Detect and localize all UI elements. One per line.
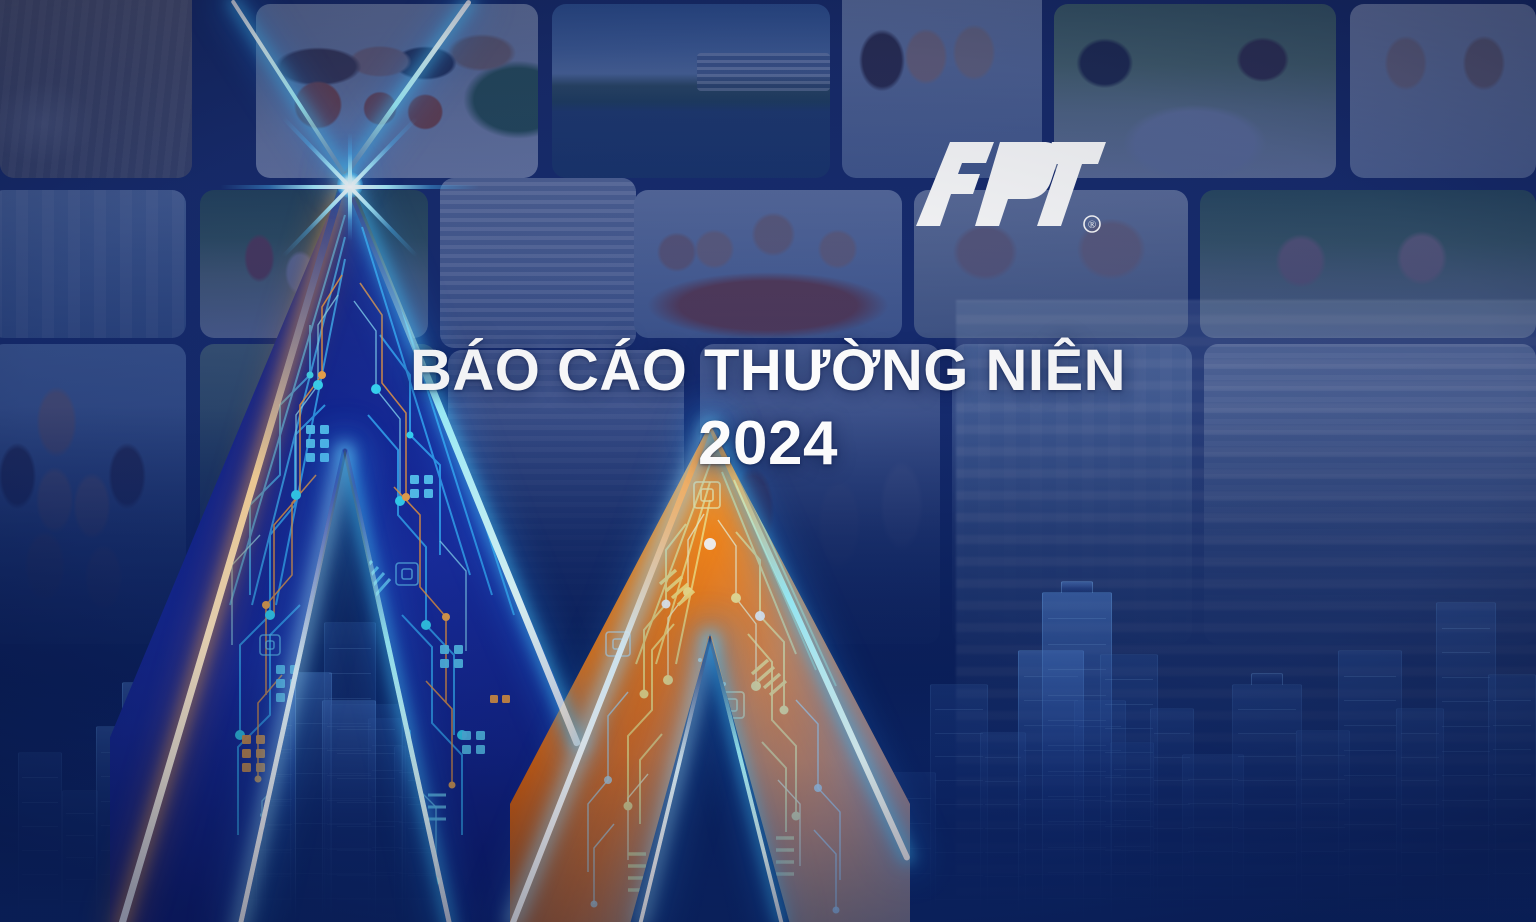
registered-mark: ® xyxy=(1088,219,1096,231)
fpt-logo-wordmark: ® xyxy=(916,136,1106,244)
orange-circuit-chevron xyxy=(510,424,910,922)
page-title-line-2: 2024 xyxy=(0,402,1536,486)
report-cover: ® BÁO CÁO THƯỜNG NIÊN 2024 xyxy=(0,0,1536,922)
fpt-logo: ® xyxy=(916,136,1106,244)
orange-chevron-cool-blend xyxy=(510,424,910,922)
chevron-glow-edge xyxy=(230,0,346,176)
page-title-line-1: BÁO CÁO THƯỜNG NIÊN xyxy=(0,340,1536,402)
cover-title-block: BÁO CÁO THƯỜNG NIÊN 2024 xyxy=(0,340,1536,486)
chevron-glow-edge xyxy=(343,0,472,176)
